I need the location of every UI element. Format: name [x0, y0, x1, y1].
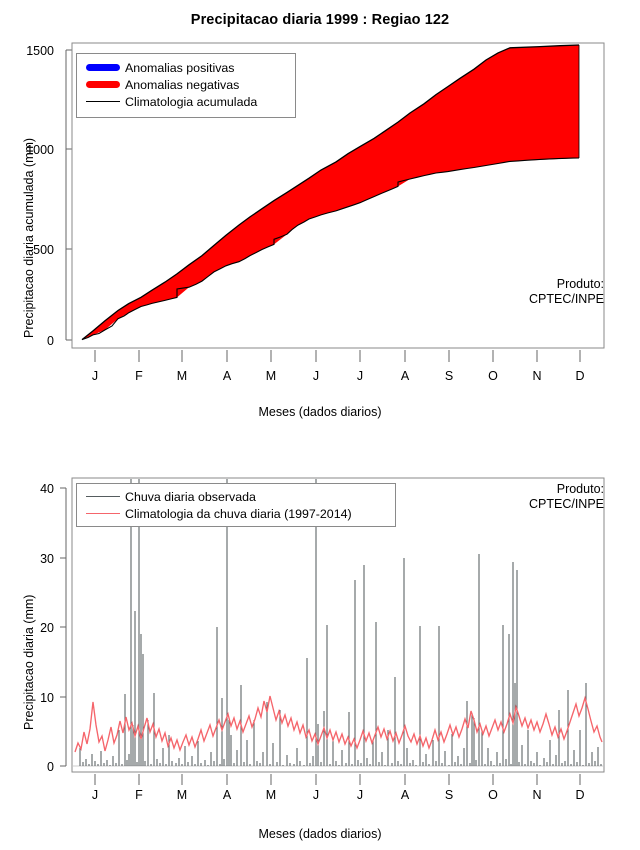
dark-line-icon	[81, 496, 125, 497]
bottom-legend: Chuva diaria observada Climatologia da c…	[76, 483, 396, 527]
legend-item-climatologia-chuva[interactable]: Climatologia da chuva diaria (1997-2014)	[81, 505, 391, 522]
legend-label-climatologia-acumulada: Climatologia acumulada	[125, 95, 257, 109]
legend-item-anomalias-negativas[interactable]: Anomalias negativas	[81, 76, 291, 93]
legend-label-anomalias-positivas: Anomalias positivas	[125, 61, 235, 75]
legend-item-chuva-observada[interactable]: Chuva diaria observada	[81, 488, 391, 505]
legend-item-climatologia-acumulada[interactable]: Climatologia acumulada	[81, 93, 291, 110]
legend-label-chuva-observada: Chuva diaria observada	[125, 490, 256, 504]
accumulated-precipitation-panel: Precipitacao diaria 1999 : Regiao 122 Pr…	[0, 0, 640, 430]
daily-precipitation-panel: Precipitacao diaria (mm) 0 10 20 30 40 J…	[0, 430, 640, 850]
top-legend: Anomalias positivas Anomalias negativas …	[76, 53, 296, 118]
legend-label-anomalias-negativas: Anomalias negativas	[125, 78, 239, 92]
red-bar-icon	[81, 81, 125, 88]
precipitation-report-page: Precipitacao diaria 1999 : Regiao 122 Pr…	[0, 0, 640, 850]
legend-item-anomalias-positivas[interactable]: Anomalias positivas	[81, 59, 291, 76]
legend-label-climatologia-chuva: Climatologia da chuva diaria (1997-2014)	[125, 507, 352, 521]
blue-bar-icon	[81, 64, 125, 71]
black-line-icon	[81, 101, 125, 102]
red-line-icon	[81, 513, 125, 514]
